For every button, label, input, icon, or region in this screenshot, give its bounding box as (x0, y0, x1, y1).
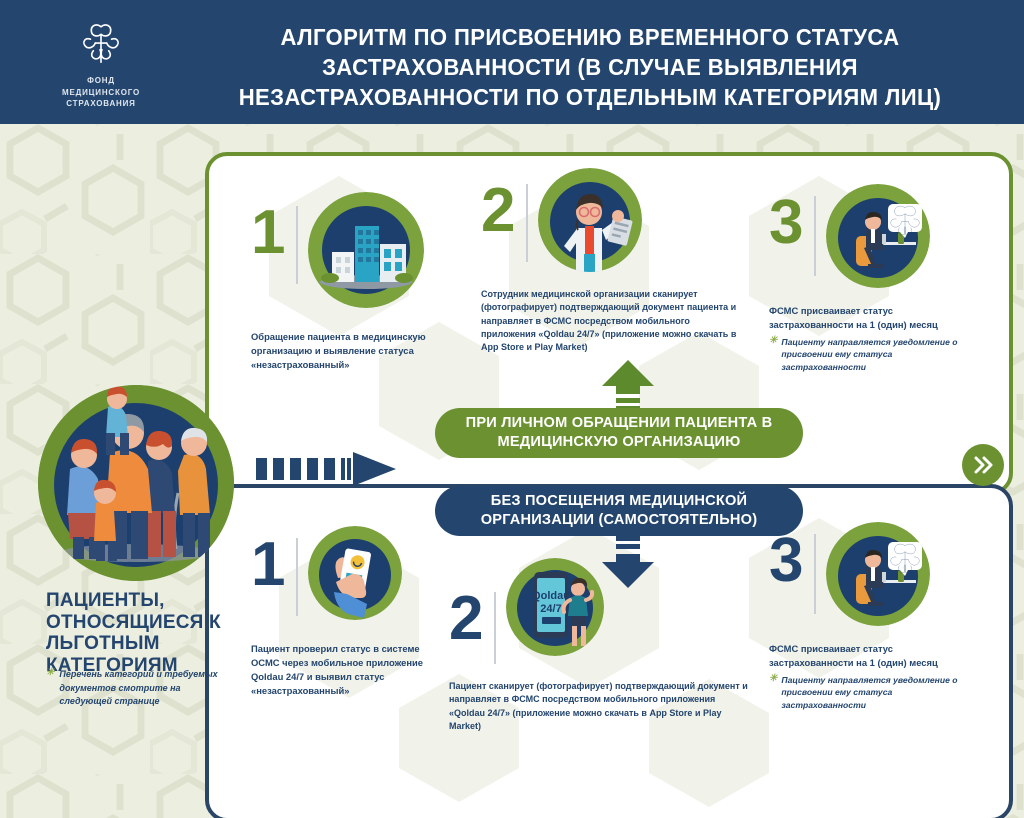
bottom-step-3-note-text: Пациенту направляется уведомление о прис… (781, 674, 979, 711)
page-header: ФОНД МЕДИЦИНСКОГО СТРАХОВАНИЯ АЛГОРИТМ П… (0, 0, 1024, 124)
dashed-right-arrow-icon (256, 452, 396, 491)
banner-self-service[interactable]: БЕЗ ПОСЕЩЕНИЯ МЕДИЦИНСКОЙ ОРГАНИЗАЦИИ (С… (435, 486, 803, 536)
double-chevron-right-icon[interactable] (962, 444, 1004, 486)
patients-note-text: Перечень категорий и требуемых документо… (59, 668, 226, 709)
top-step-3-text: ФСМС присваивает статус застрахованности… (769, 304, 974, 332)
logo-line-2: МЕДИЦИНСКОГО (46, 87, 156, 99)
bottom-step-2-number: 2 (449, 592, 494, 647)
logo-text: ФОНД МЕДИЦИНСКОГО СТРАХОВАНИЯ (46, 75, 156, 110)
top-step-3-note: ✳ Пациенту направляется уведомление о пр… (769, 336, 979, 373)
svg-text:24/7: 24/7 (541, 603, 562, 615)
top-step-3: 3 (769, 196, 979, 373)
banner-in-person[interactable]: ПРИ ЛИЧНОМ ОБРАЩЕНИИ ПАЦИЕНТА В МЕДИЦИНС… (435, 408, 803, 458)
bottom-step-2: 2 Qoldau 24/7 (449, 592, 749, 733)
infographic-page: ФОНД МЕДИЦИНСКОГО СТРАХОВАНИЯ АЛГОРИТМ П… (0, 0, 1024, 818)
officer-at-desk-icon (826, 522, 930, 626)
asterisk-icon: ✳ (769, 336, 777, 373)
top-step-3-note-text: Пациенту направляется уведомление о прис… (781, 336, 979, 373)
doctor-with-clipboard-icon (538, 168, 642, 272)
bottom-step-1-number: 1 (251, 538, 296, 593)
hand-holding-phone-icon (308, 526, 402, 620)
officer-at-desk-icon (826, 184, 930, 288)
bottom-step-1-text: Пациент проверил статус в системе ОСМС ч… (251, 642, 441, 698)
divider (494, 592, 496, 664)
bottom-step-2-text: Пациент сканирует (фотографирует) подтве… (449, 680, 749, 733)
divider (296, 206, 298, 284)
bottom-step-3: 3 (769, 534, 979, 711)
patients-title: ПАЦИЕНТЫ, ОТНОСЯЩИЕСЯ К ЛЬГОТНЫМ КАТЕГОР… (46, 590, 236, 677)
top-step-1: 1 (251, 206, 466, 372)
top-step-2-text: Сотрудник медицинской организации сканир… (481, 288, 746, 355)
top-step-1-text: Обращение пациента в медицинскую организ… (251, 330, 441, 372)
patients-group-icon (38, 385, 234, 581)
divider (296, 538, 298, 616)
page-title: АЛГОРИТМ ПО ПРИСВОЕНИЮ ВРЕМЕННОГО СТАТУС… (195, 22, 985, 112)
top-step-2: 2 (481, 184, 751, 355)
divider (526, 184, 528, 262)
bottom-step-3-note: ✳ Пациенту направляется уведомление о пр… (769, 674, 979, 711)
divider (814, 196, 816, 276)
asterisk-icon: ✳ (46, 668, 54, 709)
bottom-step-3-number: 3 (769, 534, 814, 589)
hospital-building-icon (308, 192, 424, 308)
top-step-1-number: 1 (251, 206, 296, 261)
svg-text:Qoldau: Qoldau (533, 590, 571, 602)
logo-line-1: ФОНД (46, 75, 156, 87)
asterisk-icon: ✳ (769, 674, 777, 711)
bottom-step-3-text: ФСМС присваивает статус застрахованности… (769, 642, 974, 670)
patients-note: ✳ Перечень категорий и требуемых докумен… (46, 668, 226, 709)
woman-with-smartphone-icon: Qoldau 24/7 (506, 558, 604, 656)
logo-line-3: СТРАХОВАНИЯ (46, 98, 156, 110)
top-step-3-number: 3 (769, 196, 814, 251)
fund-logo: ФОНД МЕДИЦИНСКОГО СТРАХОВАНИЯ (46, 20, 156, 110)
down-arrow-icon (600, 536, 656, 593)
divider (814, 534, 816, 614)
bottom-step-1: 1 Пациент проверил ст (251, 538, 451, 698)
top-step-2-number: 2 (481, 184, 526, 239)
flower-emblem-icon (77, 20, 125, 68)
